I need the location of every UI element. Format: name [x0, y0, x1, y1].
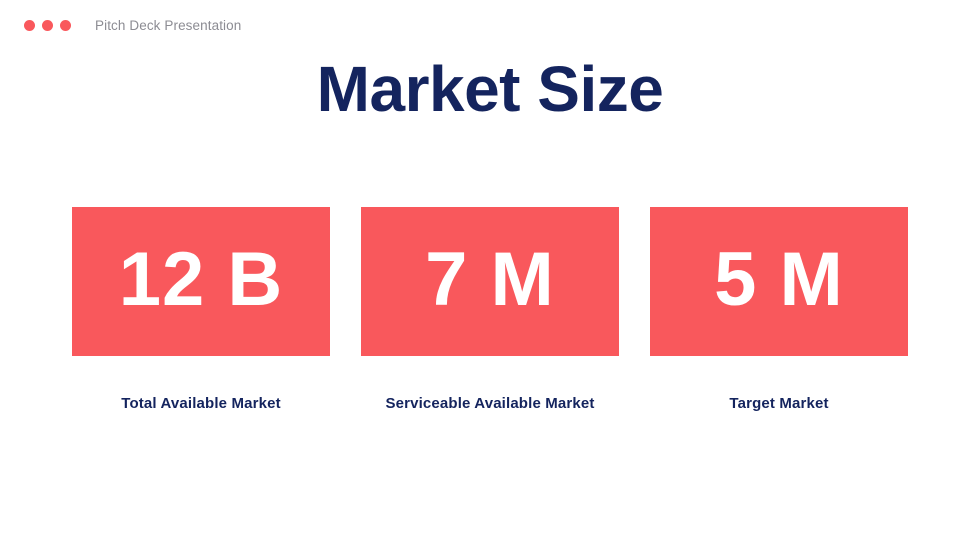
stat-value: 7 M: [425, 242, 555, 318]
dot-icon-3: [60, 20, 71, 31]
market-size-stats: 12 B Total Available Market 7 M Servicea…: [72, 207, 908, 412]
presentation-slide: Pitch Deck Presentation Market Size 12 B…: [0, 0, 980, 551]
stat-label: Total Available Market: [121, 395, 280, 412]
stat-card: 7 M: [361, 207, 619, 356]
stat-block-serviceable-available-market: 7 M Serviceable Available Market: [361, 207, 619, 412]
stat-label: Serviceable Available Market: [385, 395, 594, 412]
stat-card: 5 M: [650, 207, 908, 356]
dot-icon-1: [24, 20, 35, 31]
stat-label: Target Market: [729, 395, 828, 412]
slide-header: Pitch Deck Presentation: [0, 0, 980, 50]
page-title: Market Size: [0, 53, 980, 127]
stat-value: 12 B: [119, 242, 284, 318]
stat-value: 5 M: [714, 242, 844, 318]
dot-icon-2: [42, 20, 53, 31]
stat-block-total-available-market: 12 B Total Available Market: [72, 207, 330, 412]
traffic-light-dots: [24, 20, 71, 31]
stat-block-target-market: 5 M Target Market: [650, 207, 908, 412]
deck-title: Pitch Deck Presentation: [95, 18, 241, 33]
stat-card: 12 B: [72, 207, 330, 356]
